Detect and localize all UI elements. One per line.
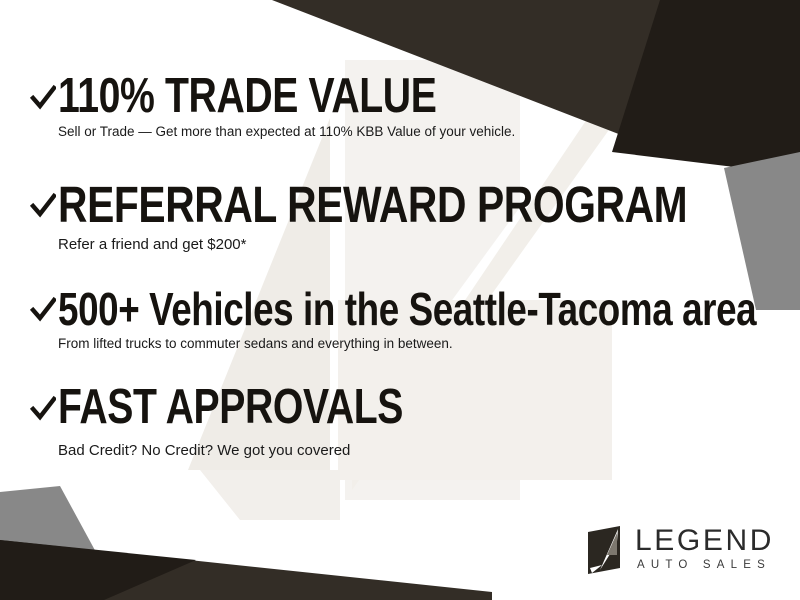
headline-line: 500+ Vehicles in the Seattle-Tacoma area <box>30 288 786 330</box>
feature-list: 110% TRADE VALUE Sell or Trade — Get mor… <box>0 0 800 600</box>
headline-line: 110% TRADE VALUE <box>30 74 786 119</box>
legend-chevron-mark-icon <box>586 524 626 574</box>
checkmark-icon <box>30 188 56 222</box>
feature-subline: Sell or Trade — Get more than expected a… <box>58 124 786 139</box>
logo-tagline: AUTO SALES <box>637 560 774 572</box>
feature-subline: Refer a friend and get $200* <box>58 236 786 253</box>
feature-row: 110% TRADE VALUE Sell or Trade — Get mor… <box>30 74 786 139</box>
feature-headline: 110% TRADE VALUE <box>58 74 436 119</box>
feature-headline: REFERRAL REWARD PROGRAM <box>58 182 687 229</box>
logo-name: LEGEND <box>635 526 774 556</box>
feature-row: FAST APPROVALS Bad Credit? No Credit? We… <box>30 385 786 459</box>
checkmark-icon <box>30 80 56 114</box>
feature-subline: Bad Credit? No Credit? We got you covere… <box>58 442 786 459</box>
headline-line: REFERRAL REWARD PROGRAM <box>30 182 786 229</box>
checkmark-icon <box>30 391 56 425</box>
checkmark-icon <box>30 292 56 326</box>
feature-headline: FAST APPROVALS <box>58 385 403 430</box>
logo-wordmark: LEGEND AUTO SALES <box>635 526 774 572</box>
feature-headline: 500+ Vehicles in the Seattle-Tacoma area <box>58 288 756 330</box>
headline-line: FAST APPROVALS <box>30 385 786 430</box>
feature-subline: From lifted trucks to commuter sedans an… <box>58 336 786 351</box>
feature-row: REFERRAL REWARD PROGRAM Refer a friend a… <box>30 182 786 253</box>
feature-row: 500+ Vehicles in the Seattle-Tacoma area… <box>30 288 786 351</box>
brand-logo: LEGEND AUTO SALES <box>586 524 774 574</box>
promo-banner: 110% TRADE VALUE Sell or Trade — Get mor… <box>0 0 800 600</box>
